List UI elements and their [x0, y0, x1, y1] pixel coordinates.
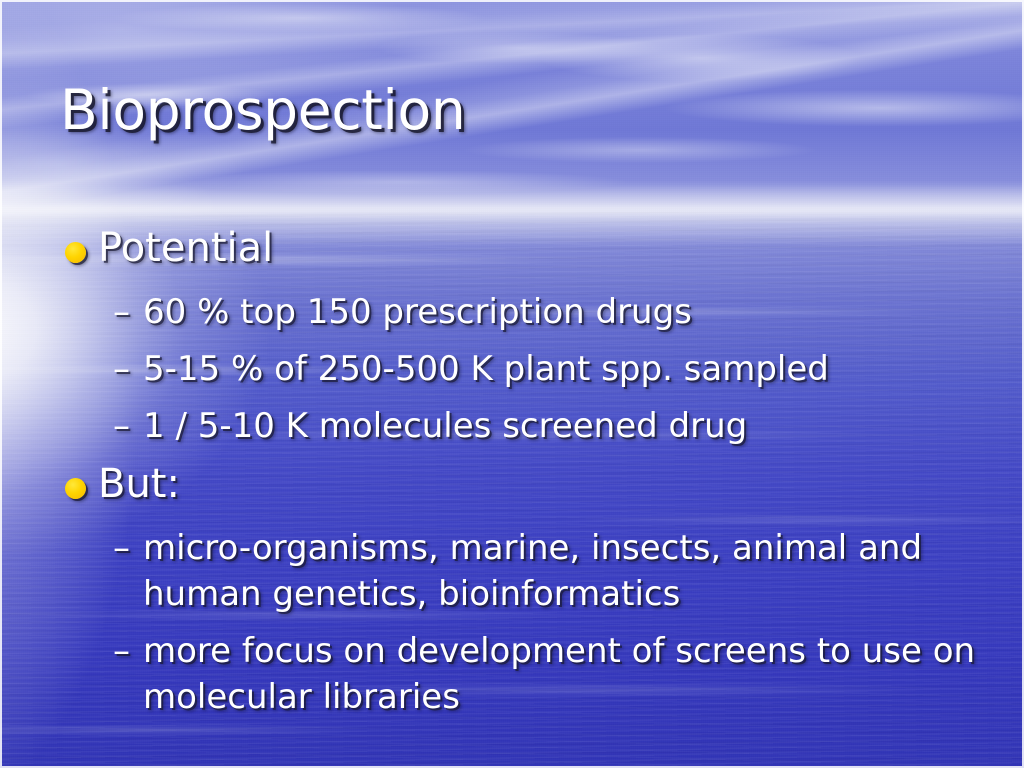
bullet-level1-label: But:: [98, 461, 180, 507]
bullet-level2-item: – 60 % top 150 prescription drugs: [0, 289, 1024, 335]
bullet-dot-icon: [65, 242, 86, 263]
bullet-list: Potential – 60 % top 150 prescription dr…: [0, 222, 1024, 722]
bullet-level2-item: – 1 / 5-10 K molecules screened drug: [0, 403, 1024, 449]
slide-content: Bioprospection Potential – 60 % top 150 …: [0, 0, 1024, 768]
dash-marker-icon: –: [113, 289, 130, 335]
spacer: [0, 279, 1024, 289]
spacer: [0, 394, 1024, 403]
dash-marker-icon: –: [113, 403, 130, 449]
dash-marker-icon: –: [113, 346, 130, 392]
bullet-level1-potential: Potential: [0, 222, 1024, 275]
spacer: [0, 515, 1024, 525]
bullet-dot-icon: [65, 478, 86, 499]
spacer: [0, 337, 1024, 346]
dash-marker-icon: –: [113, 525, 130, 571]
bullet-level2-item: – more focus on development of screens t…: [0, 628, 1024, 720]
bullet-level2-label: micro-organisms, marine, insects, animal…: [143, 528, 922, 614]
bullet-level2-item: – 5-15 % of 250-500 K plant spp. sampled: [0, 346, 1024, 392]
bullet-level2-label: 1 / 5-10 K molecules screened drug: [143, 406, 747, 446]
bullet-level2-label: 5-15 % of 250-500 K plant spp. sampled: [143, 349, 829, 389]
bullet-level1-but: But:: [0, 458, 1024, 511]
dash-marker-icon: –: [113, 628, 130, 674]
spacer: [0, 619, 1024, 628]
spacer: [0, 451, 1024, 458]
bullet-level2-item: – micro-organisms, marine, insects, anim…: [0, 525, 1024, 617]
bullet-level2-label: more focus on development of screens to …: [143, 631, 975, 717]
presentation-slide: Bioprospection Potential – 60 % top 150 …: [0, 0, 1024, 768]
slide-title: Bioprospection: [60, 79, 465, 141]
bullet-level2-label: 60 % top 150 prescription drugs: [143, 292, 692, 332]
bullet-level1-label: Potential: [98, 225, 273, 271]
